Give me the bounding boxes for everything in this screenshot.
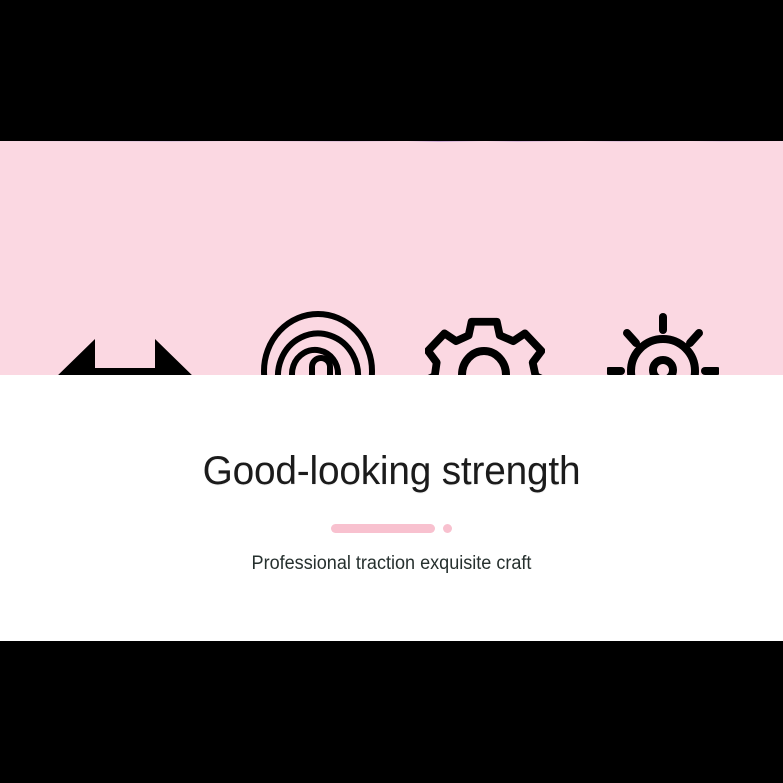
feature-item-lighting-night-light[interactable]: Lighting night light xyxy=(590,141,783,375)
hero-panel xyxy=(0,375,783,641)
pagination-dot[interactable] xyxy=(443,524,452,533)
hero-subtitle: Professional traction exquisite craft xyxy=(20,553,764,575)
letterbox-top xyxy=(0,0,783,141)
pagination-active-pill[interactable] xyxy=(331,524,435,533)
letterbox-bottom xyxy=(0,641,783,783)
double-arrow-horizontal-icon xyxy=(52,337,198,375)
feature-item-precision-movement[interactable]: Precision Movement xyxy=(410,141,590,375)
product-feature-slide: Retractile One-Click Lock xyxy=(0,0,783,783)
gear-icon xyxy=(425,317,545,375)
pagination-indicator[interactable] xyxy=(0,524,783,533)
tap-click-hand-icon xyxy=(256,311,384,375)
feature-band: Retractile One-Click Lock xyxy=(0,141,783,375)
lightbulb-icon xyxy=(607,313,719,375)
feature-item-retractile[interactable]: Retractile xyxy=(0,141,230,375)
feature-item-one-click-lock[interactable]: One-Click Lock xyxy=(230,141,410,375)
hero-title: Good-looking strength xyxy=(12,449,772,494)
